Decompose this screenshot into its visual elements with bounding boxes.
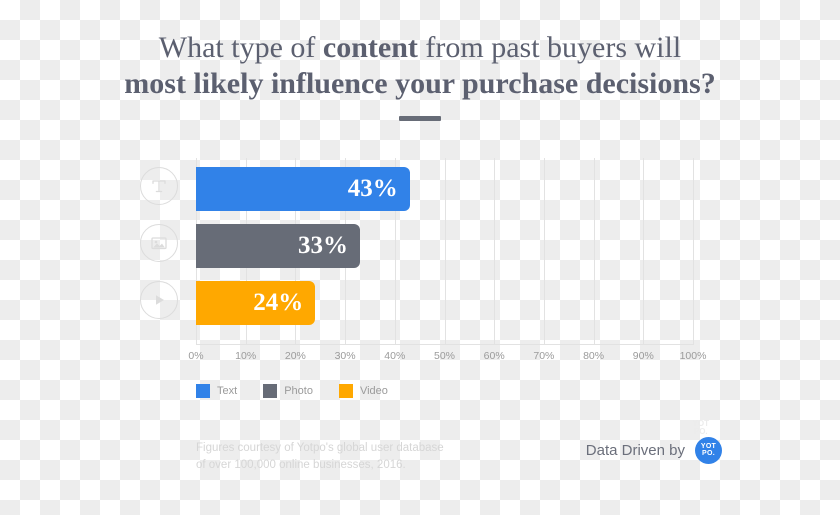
x-tick-label: 0% xyxy=(188,350,203,362)
brand-text: Data Driven by xyxy=(586,442,685,459)
legend-label: Video xyxy=(360,385,388,397)
x-tick-label: 40% xyxy=(384,350,405,362)
legend-item-text[interactable]: Text xyxy=(196,384,237,398)
watermark-line-2: PO. xyxy=(693,428,709,436)
source-note: Figures courtesy of Yotpo's global user … xyxy=(196,440,496,474)
legend-swatch xyxy=(339,384,353,398)
title-line-1-pre: What type of xyxy=(159,31,323,64)
bar-photo[interactable]: 33% xyxy=(196,224,360,268)
title-line-1: What type of content from past buyers wi… xyxy=(0,30,840,66)
title-line-2: most likely influence your purchase deci… xyxy=(0,66,840,102)
x-tick-label: 70% xyxy=(533,350,554,362)
source-note-line-1: Figures courtesy of Yotpo's global user … xyxy=(196,440,496,457)
x-tick-label: 60% xyxy=(484,350,505,362)
x-tick-label: 10% xyxy=(235,350,256,362)
legend-item-video[interactable]: Video xyxy=(339,384,388,398)
brand-attribution: Data Driven by YOT PO. xyxy=(586,437,722,464)
x-tick-label: 20% xyxy=(285,350,306,362)
chart-legend: TextPhotoVideo xyxy=(196,384,414,398)
x-tick-label: 50% xyxy=(434,350,455,362)
bar-value-label: 43% xyxy=(348,175,410,203)
bar-video[interactable]: 24% xyxy=(196,281,315,325)
bar-value-label: 24% xyxy=(253,289,315,317)
bar-value-label: 33% xyxy=(298,232,360,260)
x-tick-label: 100% xyxy=(680,350,707,362)
title-line-1-post: from past buyers will xyxy=(418,31,681,64)
bar-row[interactable]: 43% xyxy=(196,167,693,211)
legend-label: Text xyxy=(217,385,237,397)
logo-line-2: PO. xyxy=(702,450,715,458)
title-emphasis-content: content xyxy=(323,31,418,64)
legend-swatch xyxy=(196,384,210,398)
x-tick-label: 30% xyxy=(335,350,356,362)
infographic-canvas: What type of content from past buyers wi… xyxy=(0,0,840,515)
legend-item-photo[interactable]: Photo xyxy=(263,384,313,398)
photo-icon xyxy=(140,224,178,262)
logo-line-1: YOT xyxy=(701,443,716,450)
video-icon xyxy=(140,281,178,319)
gridline xyxy=(693,158,694,345)
bar-row[interactable]: 24% xyxy=(196,281,693,325)
bar-text[interactable]: 43% xyxy=(196,167,410,211)
title-divider xyxy=(399,116,441,121)
x-tick-label: 80% xyxy=(583,350,604,362)
legend-swatch xyxy=(263,384,277,398)
text-icon xyxy=(140,167,178,205)
page-title: What type of content from past buyers wi… xyxy=(0,30,840,121)
brand-logo-watermark: YOT PO. xyxy=(693,420,709,436)
x-tick-label: 90% xyxy=(633,350,654,362)
yotpo-logo-icon[interactable]: YOT PO. xyxy=(695,437,722,464)
bar-row[interactable]: 33% xyxy=(196,224,693,268)
bar-chart: 43%33%24% 0%10%20%30%40%50%60%70%80%90%1… xyxy=(140,158,720,408)
plot-area: 43%33%24% xyxy=(196,158,693,345)
x-axis-ticks: 0%10%20%30%40%50%60%70%80%90%100% xyxy=(196,350,693,368)
legend-label: Photo xyxy=(284,385,313,397)
source-note-line-2: of over 100,000 online businesses, 2016. xyxy=(196,457,496,474)
